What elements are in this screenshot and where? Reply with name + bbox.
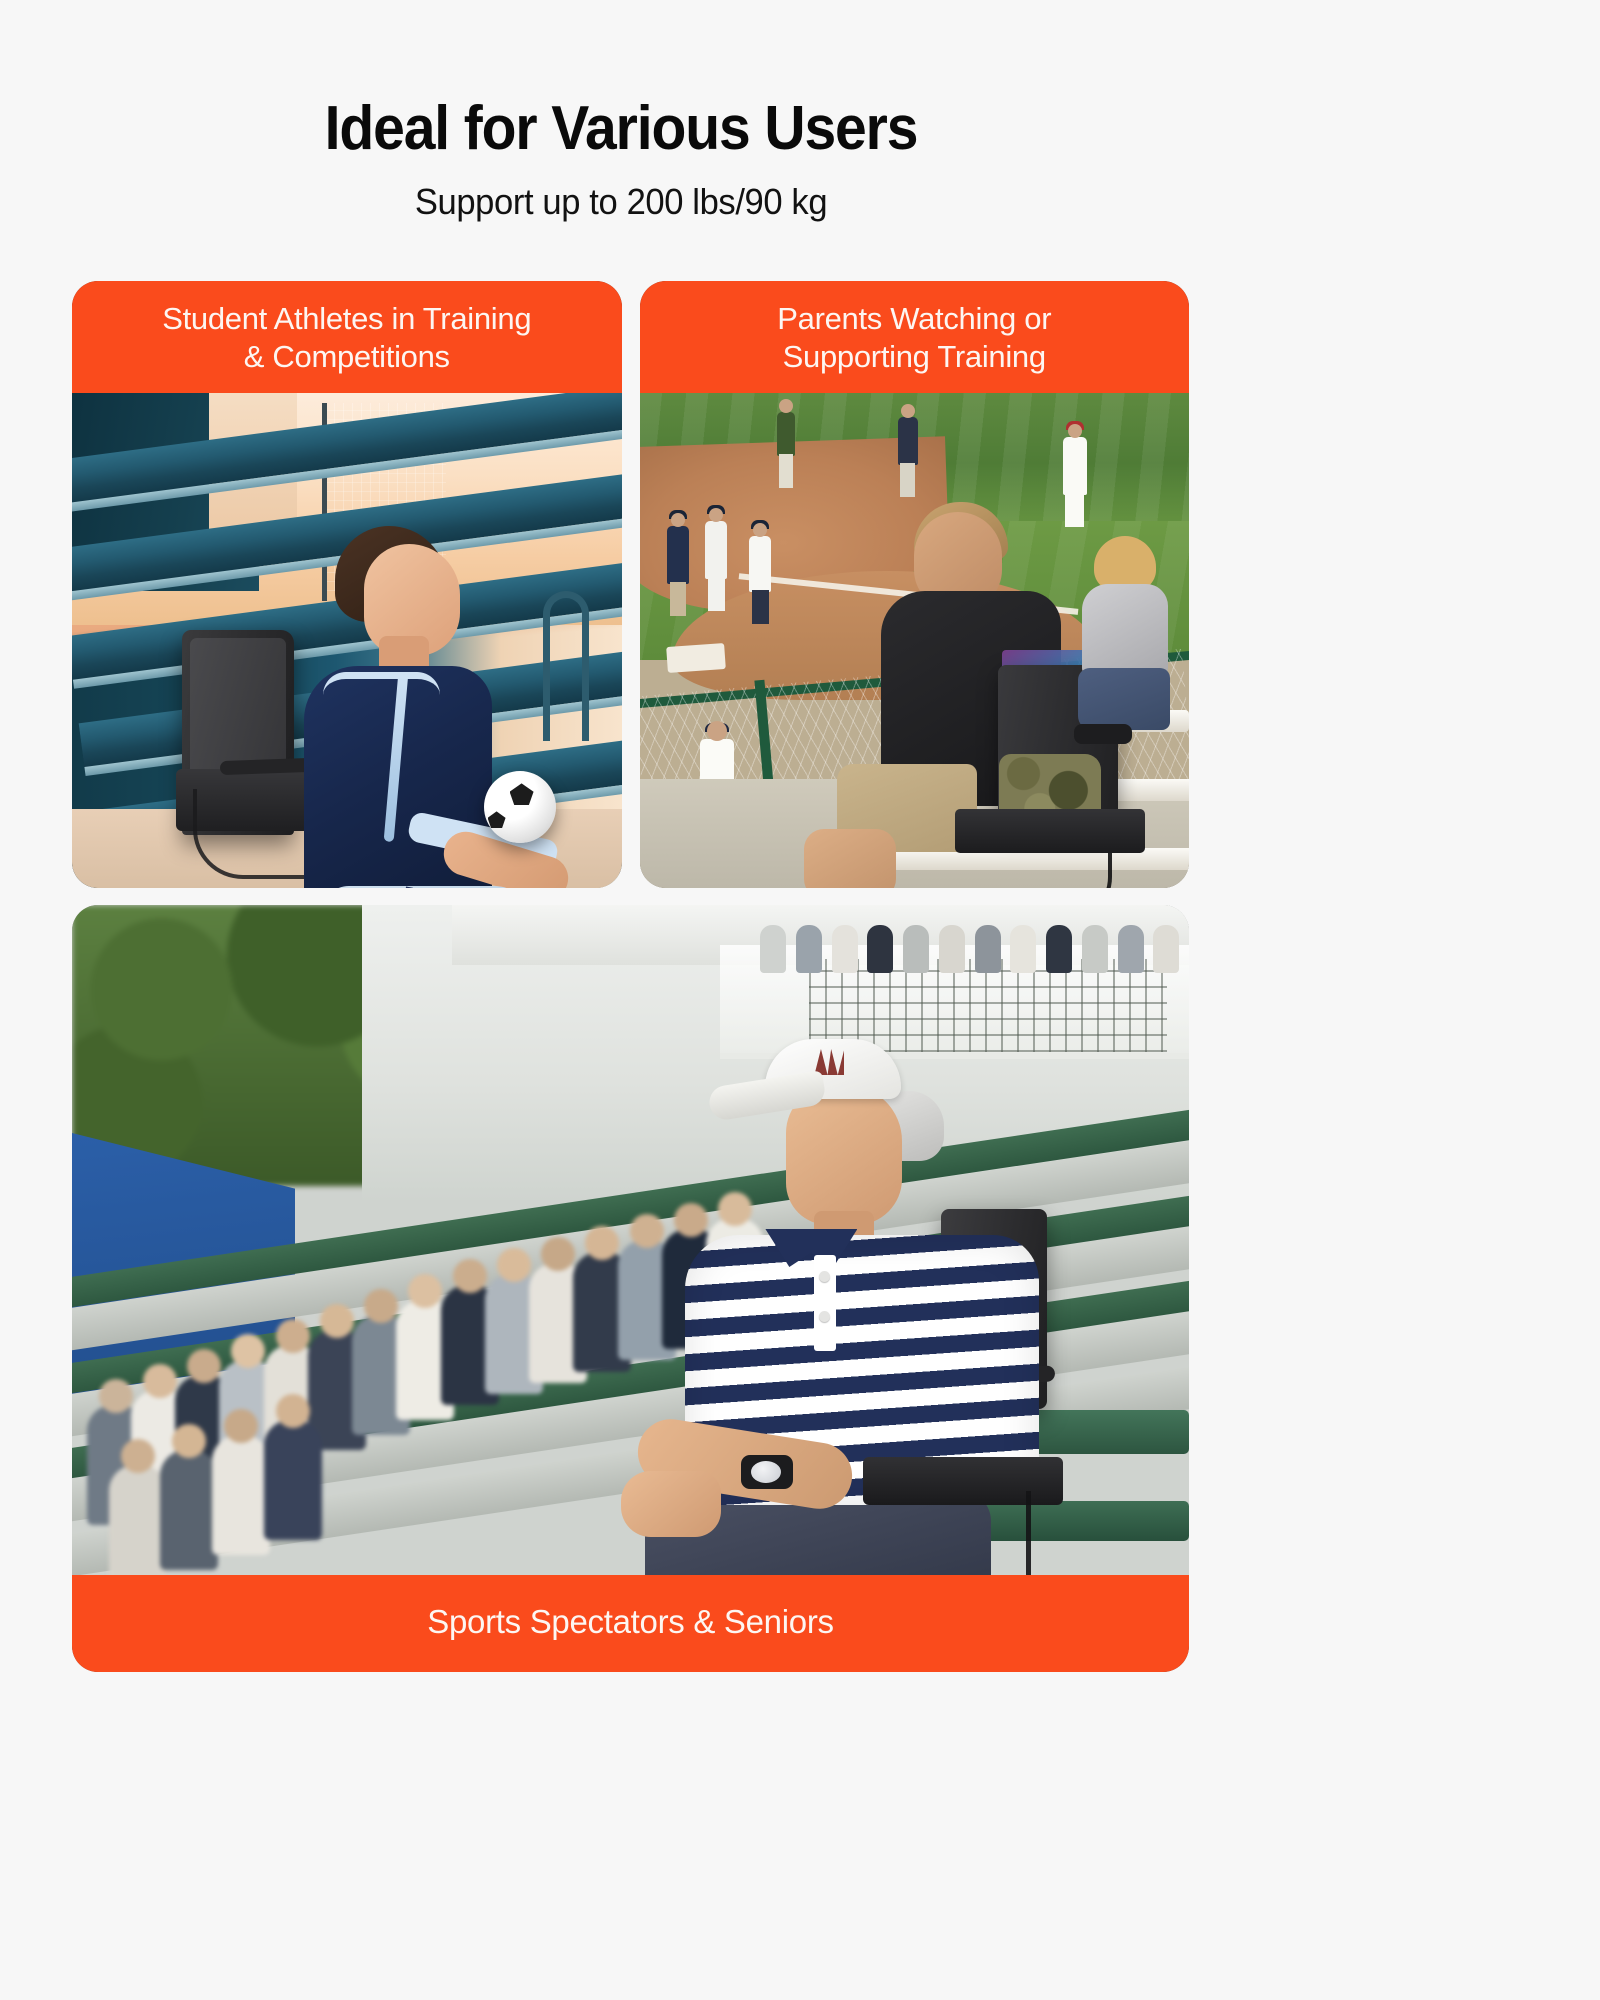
card-student-athletes[interactable]: Student Athletes in Training & Competiti… [72,281,622,888]
caption-line-1: Sports Spectators & Seniors [84,1602,1177,1642]
fielder-figure [1063,437,1087,495]
header-block: Ideal for Various Users Support up to 20… [0,0,1242,223]
card-grid: Student Athletes in Training & Competiti… [72,281,1189,1672]
card-caption-student-athletes: Student Athletes in Training & Competiti… [72,281,622,393]
caption-line-1: Student Athletes in Training [84,300,610,338]
wristwatch [741,1455,793,1489]
player-figure [777,412,795,456]
soccer-ball [484,771,556,843]
senior-spectator-figure [653,1039,1055,1575]
caption-line-2: & Competitions [84,338,610,376]
player-figure [705,521,727,579]
spectator-figure [1078,536,1178,736]
photo-parent-spectator [640,393,1190,888]
page-subtitle: Support up to 200 lbs/90 kg [25,181,1217,223]
bleacher-chair-seat [955,809,1145,853]
infographic-page: Ideal for Various Users Support up to 20… [0,0,1242,2000]
photo-student-athlete [72,393,622,888]
card-parents-watching[interactable]: Parents Watching or Supporting Training [640,281,1190,888]
card-sports-spectators[interactable]: Sports Spectators & Seniors [72,905,1189,1672]
card-caption-sports-spectators: Sports Spectators & Seniors [72,1575,1189,1672]
top-card-row: Student Athletes in Training & Competiti… [72,281,1189,888]
photo-senior-spectator [72,905,1189,1575]
upper-deck-crowd [742,925,1189,1012]
card-caption-parents-watching: Parents Watching or Supporting Training [640,281,1190,393]
caption-line-1: Parents Watching or [652,300,1178,338]
player-figure [898,417,918,465]
player-figure [667,526,689,584]
page-title: Ideal for Various Users [50,96,1193,161]
coach-figure [749,536,771,592]
caption-line-2: Supporting Training [652,338,1178,376]
